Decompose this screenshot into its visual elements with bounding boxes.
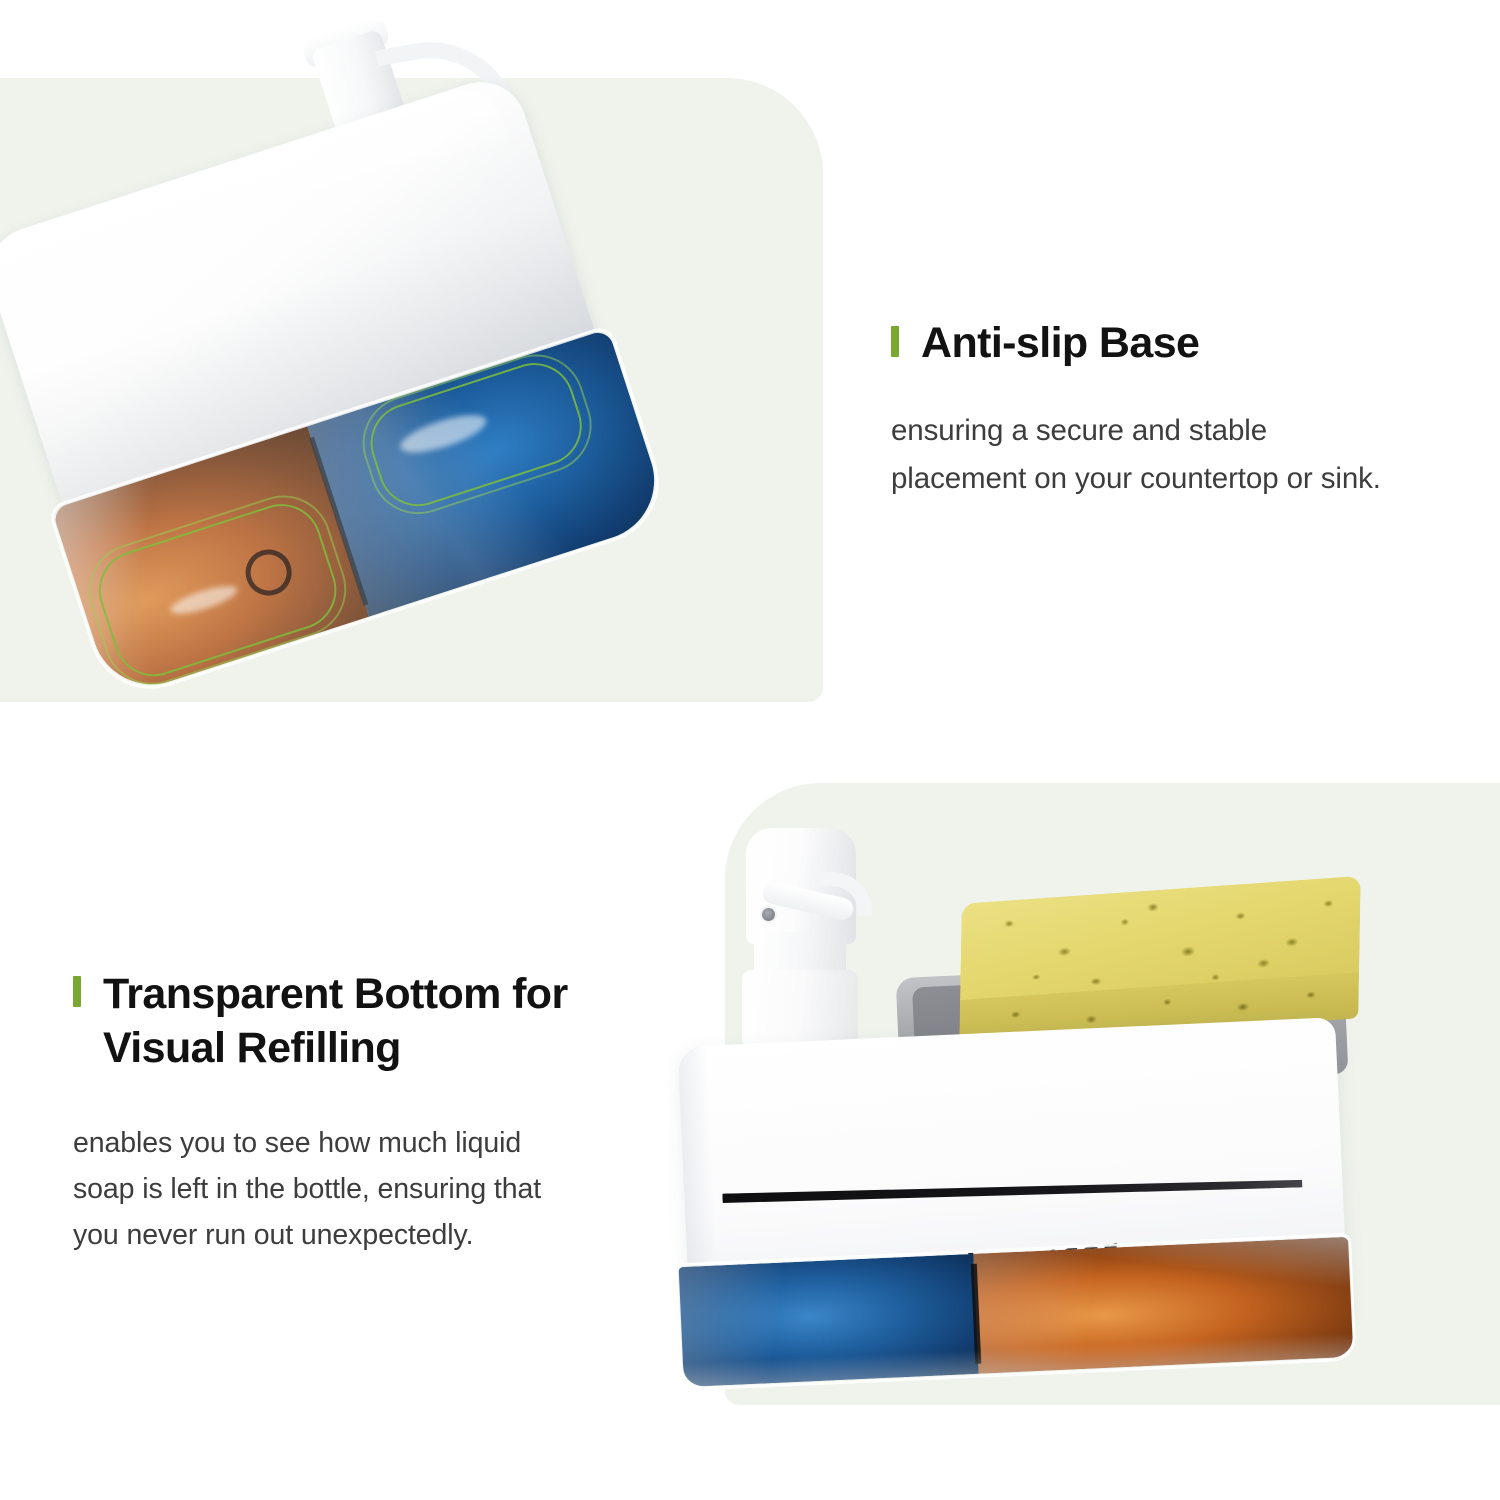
- product-image-tilted-bottom-view: [0, 20, 700, 740]
- feature-transparent-bottom: Transparent Bottom for Visual Refilling …: [73, 968, 603, 1258]
- feature-heading-text: Anti-slip Base: [921, 319, 1199, 367]
- product-feature-graphic: Anti-slip Base ensuring a secure and sta…: [0, 0, 1500, 1500]
- feature-body-text: enables you to see how much liquid soap …: [73, 1120, 573, 1258]
- feature-body-text: ensuring a secure and stable placement o…: [891, 407, 1401, 503]
- pump-spout-curve: [816, 872, 872, 916]
- feature-heading: Anti-slip Base: [891, 318, 1411, 369]
- feature-heading: Transparent Bottom for Visual Refilling: [73, 968, 603, 1076]
- accent-bar-icon: [891, 326, 899, 357]
- feature-anti-slip-base: Anti-slip Base ensuring a secure and sta…: [891, 318, 1411, 502]
- pump-spout-tip: [758, 904, 778, 924]
- press-plate-slot: [722, 1174, 1302, 1206]
- accent-bar-icon: [73, 976, 81, 1007]
- feature-heading-text: Transparent Bottom for Visual Refilling: [103, 970, 568, 1072]
- pump-base: [742, 970, 858, 1050]
- product-image-upright-with-sponge: Soap Dispenser: [660, 800, 1460, 1440]
- pump-head: [746, 828, 856, 944]
